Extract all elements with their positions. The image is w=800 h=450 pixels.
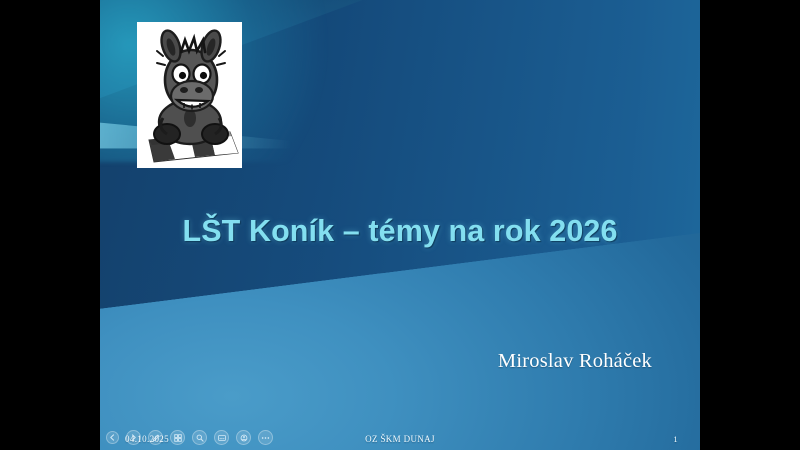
grid-icon (174, 434, 182, 442)
next-slide-button[interactable] (126, 430, 141, 445)
slide-page-number: 1 (673, 434, 678, 444)
presenter-view-button[interactable] (236, 430, 251, 445)
slide-subtitle-author: Miroslav Roháček (498, 350, 652, 373)
slide-canvas[interactable]: LŠT Koník – témy na rok 2026 Miroslav Ro… (100, 0, 700, 450)
pen-icon (152, 434, 160, 442)
pen-tools-button[interactable] (148, 430, 163, 445)
donkey-chess-knight-mascot-image[interactable] (137, 22, 242, 168)
magnifier-icon (196, 434, 204, 442)
all-slides-button[interactable] (170, 430, 185, 445)
chevron-left-icon (109, 434, 116, 441)
ellipsis-icon (261, 436, 270, 440)
subtitles-button[interactable] (214, 430, 229, 445)
letterbox-right (700, 0, 800, 450)
slideshow-control-bar[interactable] (102, 428, 277, 447)
slide-title: LŠT Koník – témy na rok 2026 (100, 214, 700, 249)
zoom-button[interactable] (192, 430, 207, 445)
slideshow-stage: LŠT Koník – témy na rok 2026 Miroslav Ro… (0, 0, 800, 450)
letterbox-left (0, 0, 100, 450)
previous-slide-button[interactable] (106, 431, 119, 444)
chevron-right-icon (130, 434, 137, 441)
more-options-button[interactable] (258, 430, 273, 445)
donkey-illustration-icon (137, 22, 242, 168)
presenter-icon (240, 434, 248, 442)
subtitles-icon (218, 434, 226, 442)
